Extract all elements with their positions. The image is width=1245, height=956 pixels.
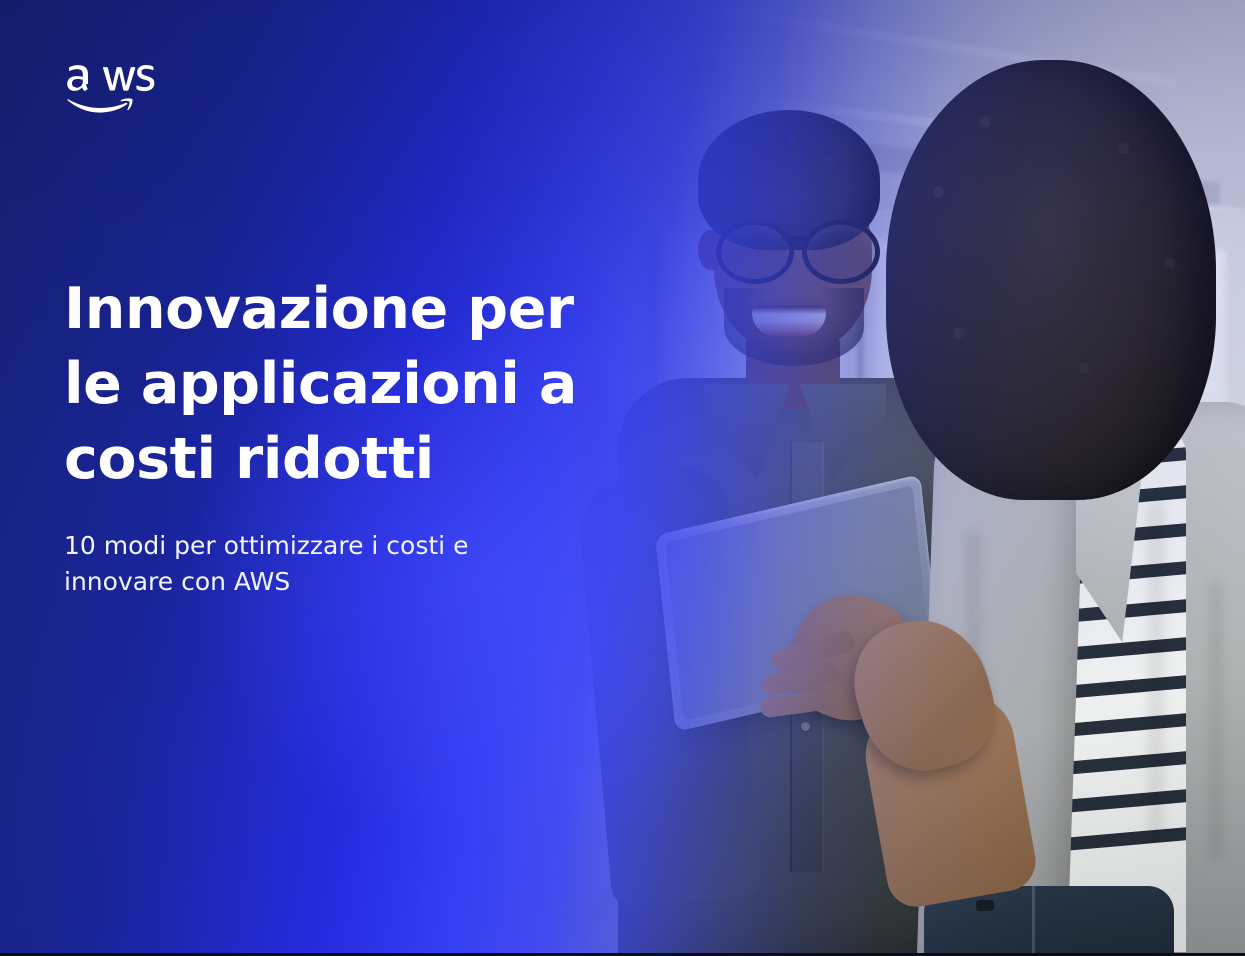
woman-hair xyxy=(886,60,1216,500)
aws-logo xyxy=(64,62,156,116)
jeans-button xyxy=(976,900,994,911)
man-smile xyxy=(752,306,826,336)
glasses-lens xyxy=(716,220,794,284)
glasses-lens xyxy=(802,220,880,284)
fabric-fold xyxy=(1210,580,1222,860)
cover-subhead: 10 modi per ottimizzare i costi e innova… xyxy=(64,528,494,599)
person-woman xyxy=(880,60,1245,953)
cover-headline: Innovazione per le applicazioni a costi … xyxy=(64,272,624,498)
fabric-fold xyxy=(1148,500,1164,840)
ebook-cover: Innovazione per le applicazioni a costi … xyxy=(0,0,1245,956)
shirt-button xyxy=(801,722,810,731)
aws-smile-arrow-icon xyxy=(67,98,132,112)
eyeglasses-icon xyxy=(710,220,882,276)
glasses-bridge xyxy=(782,236,806,241)
aws-wordmark-icon xyxy=(67,65,154,91)
